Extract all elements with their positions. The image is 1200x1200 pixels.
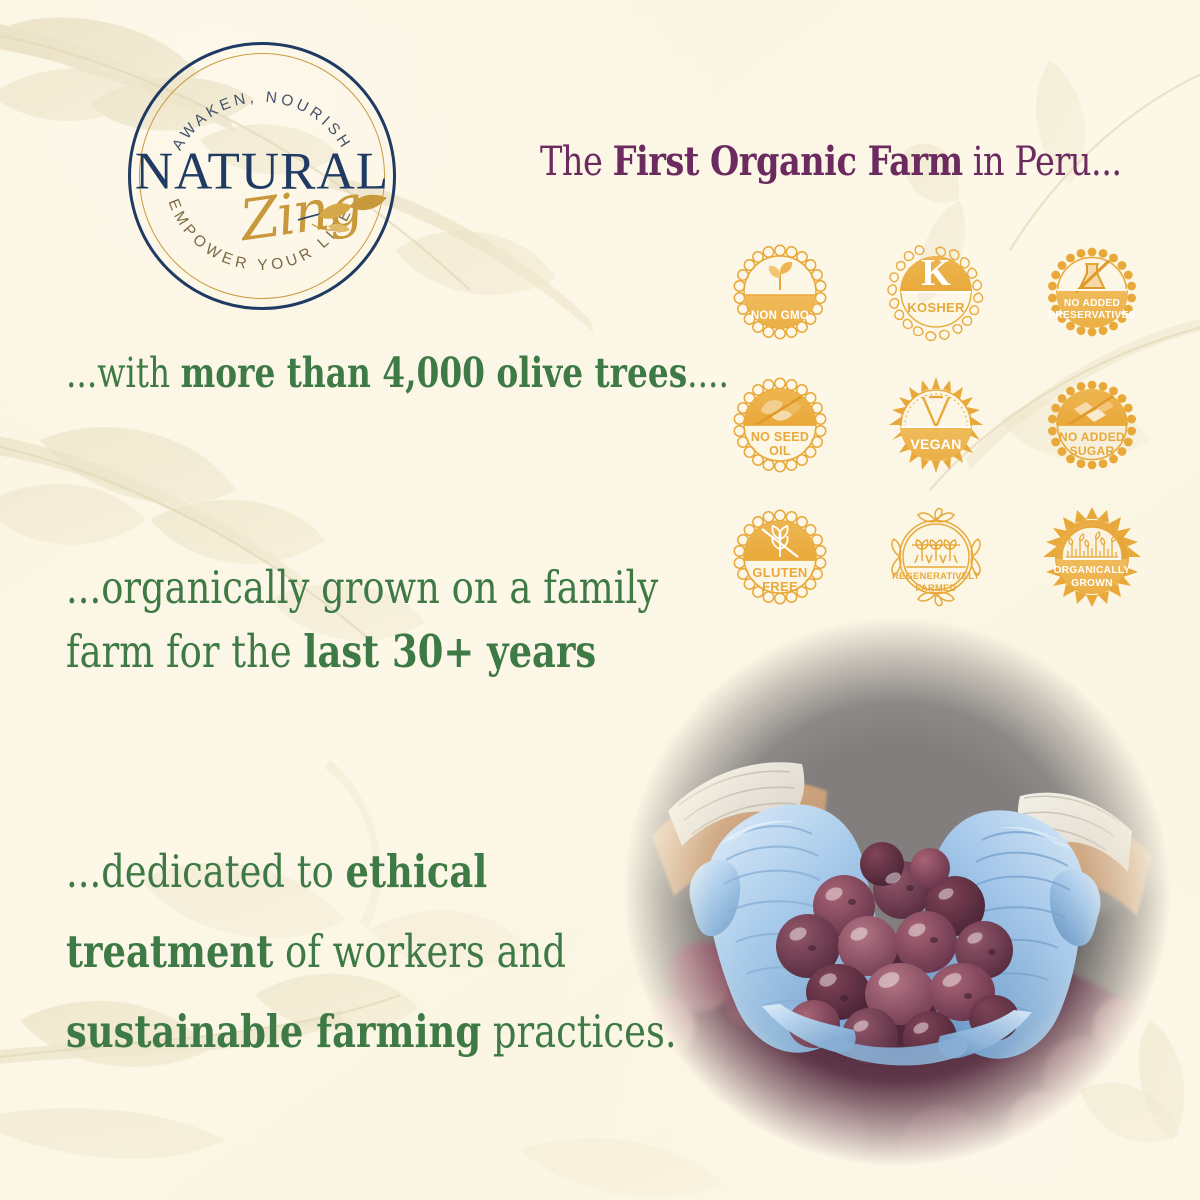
copy-block-ethical-sustainable: ...dedicated to ethical treatment of wor… — [66, 832, 677, 1072]
badge-label: REGENERATIVELY — [892, 571, 980, 581]
headline-part-3: in Peru... — [963, 139, 1122, 185]
copy-span: ...organically grown on a family — [66, 561, 658, 614]
copy-span: of workers and — [273, 925, 566, 978]
headline-part-2: First Organic Farm — [613, 138, 963, 185]
copy-line: farm for the last 30+ years — [66, 620, 658, 684]
badge-label: FARMED — [915, 583, 956, 593]
copy-line: ...with more than 4,000 olive trees.... — [66, 352, 729, 395]
badge-regeneratively-farmed[interactable]: REGENERATIVELY FARMED — [884, 505, 988, 609]
copy-line: sustainable farming practices. — [66, 992, 677, 1072]
copy-block-family-farm: ...organically grown on a family farm fo… — [66, 556, 658, 684]
badge-no-added-sugar[interactable]: NO ADDED SUGAR — [1040, 373, 1144, 477]
poster-canvas: AWAKEN, NOURISH EMPOWER YOUR LIFE. NATUR… — [0, 0, 1200, 1200]
sprout-icon — [769, 262, 792, 290]
flask-slash-icon — [1076, 260, 1110, 292]
copy-span: sustainable farming — [66, 1005, 481, 1058]
badge-label: GLUTEN — [752, 565, 807, 580]
badge-label: FREE — [762, 579, 798, 594]
photo-alt-text: Gloved hands cupping freshly harvested d… — [0, 0, 1, 1]
letter-v-icon — [923, 397, 949, 427]
badge-no-added-preservatives[interactable]: NO ADDED PRESERVATIVES — [1040, 240, 1144, 344]
copy-span: last 30+ years — [303, 625, 596, 678]
badge-no-seed-oil[interactable]: NO SEED OIL — [728, 373, 832, 477]
crops-row-icon — [912, 540, 960, 563]
copy-span: ...with — [66, 349, 181, 397]
badge-label: KOSHER — [907, 300, 965, 315]
letter-k-icon: K — [921, 252, 951, 294]
badge-gluten-free[interactable]: GLUTEN FREE — [728, 505, 832, 609]
badge-label: VEGAN — [910, 436, 961, 452]
copy-span: ...dedicated to — [66, 845, 346, 898]
badge-label: NO ADDED — [1064, 298, 1120, 309]
certification-badge-grid: NON GMO — [722, 240, 1174, 630]
badge-label: GROWN — [1071, 578, 1113, 589]
badge-vegan[interactable]: VEGAN — [884, 373, 988, 477]
badge-label: OIL — [769, 444, 791, 458]
copy-line: ...organically grown on a family — [66, 556, 658, 620]
badge-label: NON GMO — [751, 310, 809, 322]
badge-kosher[interactable]: K KOSHER — [884, 240, 988, 344]
copy-line: treatment of workers and — [66, 912, 677, 992]
copy-line: ...dedicated to ethical — [66, 832, 677, 912]
copy-span: farm for the — [66, 625, 303, 678]
copy-span: more than 4,000 olive trees — [181, 349, 688, 397]
badge-non-gmo[interactable]: NON GMO — [728, 240, 832, 344]
headline-part-1: The — [540, 139, 613, 185]
badge-label: SUGAR — [1070, 444, 1115, 458]
copy-span: treatment — [66, 925, 273, 978]
copy-span: ethical — [346, 845, 488, 898]
olive-harvest-photo — [612, 606, 1182, 1178]
photo-vignette-mask — [612, 606, 1182, 1178]
copy-block-olive-trees: ...with more than 4,000 olive trees.... — [66, 352, 729, 395]
badge-label: NO SEED — [751, 430, 809, 444]
badge-organically-grown[interactable]: ORGANICALLY GROWN — [1040, 505, 1144, 609]
badge-label: PRESERVATIVES — [1048, 310, 1136, 321]
badge-label: NO ADDED — [1059, 430, 1125, 444]
page-title: The First Organic Farm in Peru... — [540, 142, 1069, 182]
logo-leaf-sprig-icon — [294, 182, 390, 244]
badge-label: ORGANICALLY — [1053, 565, 1130, 576]
brand-logo[interactable]: AWAKEN, NOURISH EMPOWER YOUR LIFE. NATUR… — [128, 42, 396, 310]
